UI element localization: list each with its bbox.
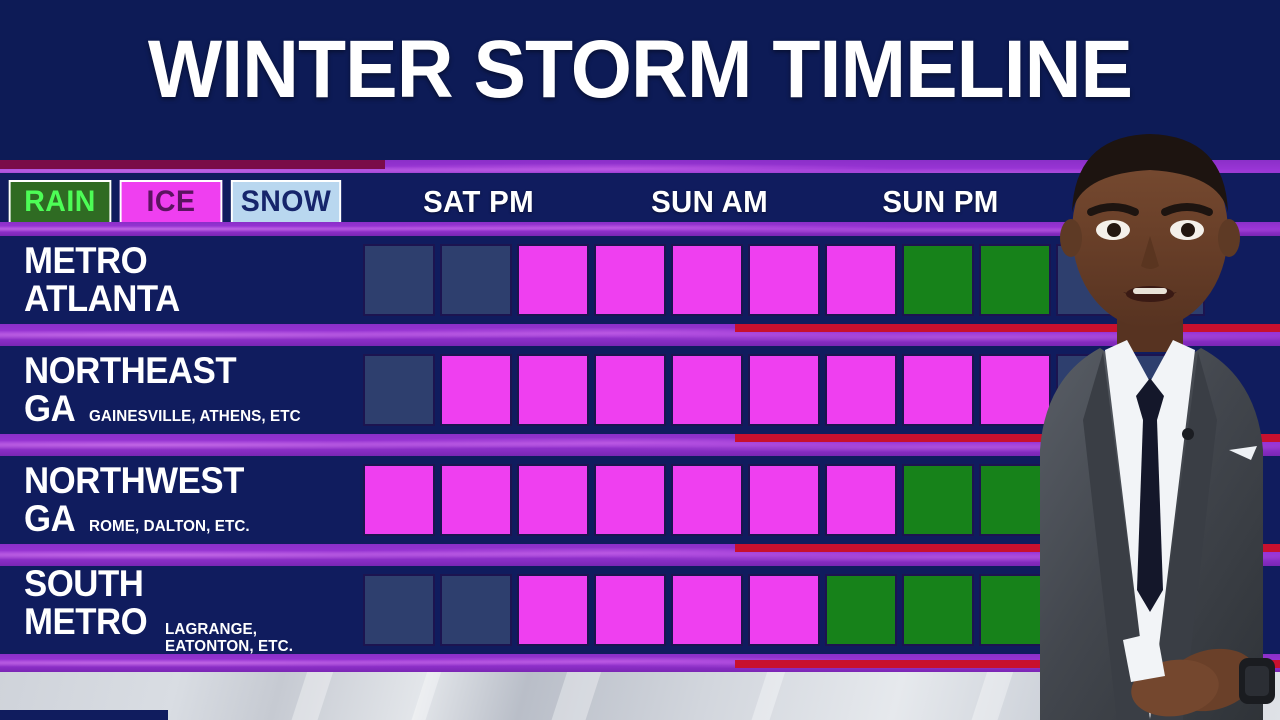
timeline-cell[interactable] bbox=[825, 574, 897, 646]
row-subtitle: LAGRANGE, EATONTON, ETC. bbox=[165, 621, 336, 655]
timeline-cell[interactable] bbox=[594, 574, 666, 646]
page-title: WINTER STORM TIMELINE bbox=[26, 22, 1255, 118]
row-subtitle: GAINESVILLE, ATHENS, ETC bbox=[89, 408, 301, 425]
timeline-cell[interactable] bbox=[363, 354, 435, 426]
legend-label-ice: ICE bbox=[147, 185, 196, 219]
timeline-cell[interactable] bbox=[979, 574, 1051, 646]
header-bottom-divider bbox=[0, 222, 1280, 236]
legend-chip-ice[interactable]: ICE bbox=[120, 180, 223, 224]
timeline-cell[interactable] bbox=[979, 464, 1051, 536]
row-cells-metro-atlanta bbox=[363, 236, 1205, 324]
row-title-line2: METRO bbox=[24, 603, 147, 641]
time-header-mon-am: MON A bbox=[1062, 184, 1280, 220]
time-header-sat-pm: SAT PM bbox=[369, 184, 588, 220]
time-header-sun-pm: SUN PM bbox=[831, 184, 1050, 220]
timeline-cell[interactable] bbox=[671, 574, 743, 646]
timeline-cell[interactable] bbox=[440, 354, 512, 426]
row-divider bbox=[0, 544, 1280, 566]
lower-third-corner-bar bbox=[0, 710, 168, 720]
studio-floor-backdrop bbox=[0, 668, 1280, 720]
legend-chip-snow[interactable]: SNOW bbox=[231, 180, 341, 224]
timeline-cell[interactable] bbox=[1133, 464, 1205, 536]
timeline-cell[interactable] bbox=[748, 464, 820, 536]
timeline-cell[interactable] bbox=[363, 464, 435, 536]
timeline-cell[interactable] bbox=[517, 354, 589, 426]
precip-legend: RAIN ICE SNOW bbox=[6, 180, 344, 224]
timeline-cell[interactable] bbox=[1056, 574, 1128, 646]
timeline-cell[interactable] bbox=[671, 354, 743, 426]
row-cells-northeast-ga bbox=[363, 346, 1205, 434]
title-bar: WINTER STORM TIMELINE bbox=[0, 0, 1280, 160]
legend-label-rain: RAIN bbox=[24, 185, 96, 219]
timeline-cell[interactable] bbox=[902, 244, 974, 316]
timeline-cell[interactable] bbox=[902, 464, 974, 536]
timeline-cell[interactable] bbox=[1056, 464, 1128, 536]
row-label-metro-atlanta: METRO ATLANTA bbox=[24, 236, 354, 324]
row-cells-south-metro bbox=[363, 566, 1205, 654]
row-label-south-metro: SOUTH METRO LAGRANGE, EATONTON, ETC. bbox=[24, 566, 354, 654]
row-label-northeast-ga: NORTHEAST GA GAINESVILLE, ATHENS, ETC bbox=[24, 346, 354, 434]
timeline-cell[interactable] bbox=[1133, 354, 1205, 426]
table-row[interactable]: METRO ATLANTA bbox=[0, 236, 1280, 324]
table-row[interactable]: SOUTH METRO LAGRANGE, EATONTON, ETC. bbox=[0, 566, 1280, 654]
timeline-cell[interactable] bbox=[363, 574, 435, 646]
timeline-cell[interactable] bbox=[1133, 244, 1205, 316]
row-title-line2: ATLANTA bbox=[24, 280, 334, 318]
timeline-cell[interactable] bbox=[594, 244, 666, 316]
timeline-cell[interactable] bbox=[440, 464, 512, 536]
row-title-line1: NORTHWEST bbox=[24, 462, 334, 500]
timeline-cell[interactable] bbox=[517, 464, 589, 536]
timeline-cell[interactable] bbox=[517, 574, 589, 646]
timeline-cell[interactable] bbox=[979, 244, 1051, 316]
timeline-cell[interactable] bbox=[517, 244, 589, 316]
legend-chip-rain[interactable]: RAIN bbox=[9, 180, 112, 224]
row-title-line1: METRO bbox=[24, 242, 334, 280]
table-row[interactable]: NORTHWEST GA ROME, DALTON, ETC. bbox=[0, 456, 1280, 544]
row-title-line1: NORTHEAST bbox=[24, 352, 334, 390]
timeline-panel: RAIN ICE SNOW SAT PM SUN AM SUN PM MON A bbox=[0, 160, 1280, 672]
table-row[interactable]: NORTHEAST GA GAINESVILLE, ATHENS, ETC bbox=[0, 346, 1280, 434]
timeline-cell[interactable] bbox=[440, 244, 512, 316]
maroon-accent-stripe bbox=[0, 160, 385, 169]
timeline-cell[interactable] bbox=[825, 244, 897, 316]
row-divider bbox=[0, 324, 1280, 346]
row-title-line2: GA bbox=[24, 500, 75, 538]
weather-graphic-screen: WINTER STORM TIMELINE RAIN ICE SNOW SAT … bbox=[0, 0, 1280, 720]
panel-bottom-divider bbox=[0, 654, 1280, 672]
timeline-cell[interactable] bbox=[440, 574, 512, 646]
timeline-cell[interactable] bbox=[1056, 354, 1128, 426]
timeline-cell[interactable] bbox=[1056, 244, 1128, 316]
timeline-cell[interactable] bbox=[671, 464, 743, 536]
timeline-cell[interactable] bbox=[748, 574, 820, 646]
timeline-cell[interactable] bbox=[363, 244, 435, 316]
timeline-cell[interactable] bbox=[902, 574, 974, 646]
legend-label-snow: SNOW bbox=[241, 185, 332, 219]
timeline-cell[interactable] bbox=[825, 464, 897, 536]
timeline-cell[interactable] bbox=[748, 244, 820, 316]
timeline-cell[interactable] bbox=[594, 354, 666, 426]
row-title-line2: GA bbox=[24, 390, 75, 428]
timeline-cell[interactable] bbox=[671, 244, 743, 316]
row-title-line1: SOUTH bbox=[24, 565, 334, 603]
timeline-cell[interactable] bbox=[825, 354, 897, 426]
row-divider bbox=[0, 434, 1280, 456]
timeline-cell[interactable] bbox=[979, 354, 1051, 426]
timeline-cell[interactable] bbox=[748, 354, 820, 426]
time-header-sun-am: SUN AM bbox=[600, 184, 819, 220]
timeline-cell[interactable] bbox=[594, 464, 666, 536]
row-cells-northwest-ga bbox=[363, 456, 1205, 544]
row-label-northwest-ga: NORTHWEST GA ROME, DALTON, ETC. bbox=[24, 456, 354, 544]
row-subtitle: ROME, DALTON, ETC. bbox=[89, 518, 250, 535]
timeline-cell[interactable] bbox=[1133, 574, 1205, 646]
timeline-cell[interactable] bbox=[902, 354, 974, 426]
